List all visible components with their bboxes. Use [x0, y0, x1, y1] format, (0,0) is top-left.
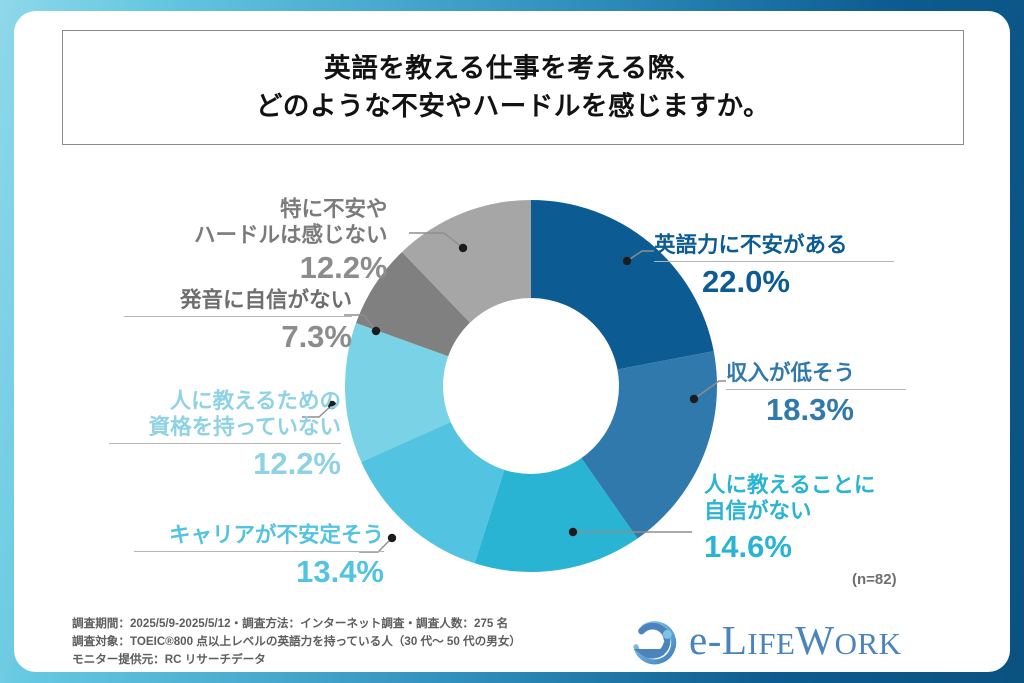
- logo-text-l: L: [722, 617, 748, 663]
- sample-size-label: (n=82): [852, 571, 897, 588]
- callout-rule: [109, 443, 341, 444]
- title-line-2: どのような不安やハードルを感じますか。: [256, 88, 770, 126]
- callout-label-line-1: 特に不安や: [194, 197, 388, 223]
- callout-rule: [726, 389, 906, 390]
- callout-label: 収入が低そう: [726, 361, 906, 387]
- callout-rule: [124, 316, 352, 317]
- callout-no-concerns: 特に不安や ハードルは感じない 12.2%: [194, 197, 388, 285]
- survey-monitor-source: モニター提供元：RC リサーチデータ: [72, 651, 612, 669]
- infographic-card: 英語を教える仕事を考える際、 どのような不安やハードルを感じますか。 英語力に不…: [14, 11, 1010, 672]
- callout-rule: [134, 551, 384, 552]
- logo-text-ork: ORK: [835, 626, 902, 661]
- callout-unstable-career: キャリアが不安定そう 13.4%: [134, 523, 384, 589]
- callout-rule: [654, 261, 894, 262]
- callout-label: キャリアが不安定そう: [134, 523, 384, 549]
- callout-no-confidence-teaching: 人に教えることに 自信がない 14.6%: [704, 473, 875, 564]
- callout-percent: 13.4%: [134, 555, 384, 589]
- callout-percent: 12.2%: [194, 251, 388, 285]
- callout-english-ability: 英語力に不安がある 22.0%: [654, 233, 894, 299]
- callout-label-line-2: 自信がない: [704, 499, 875, 525]
- survey-target: 調査対象：TOEIC®800 点以上レベルの英語力を持っている人（30 代～ 5…: [72, 633, 612, 651]
- survey-period: 調査期間：2025/5/9-2025/5/12・調査方法：インターネット調査・調…: [72, 615, 612, 633]
- callout-no-qualification: 人に教えるための 資格を持っていない 12.2%: [109, 389, 341, 481]
- page-title: 英語を教える仕事を考える際、 どのような不安やハードルを感じますか。: [62, 30, 964, 145]
- logo-wordmark: e-LIFEWORK: [689, 620, 902, 661]
- callout-low-income: 収入が低そう 18.3%: [726, 361, 906, 427]
- callout-percent: 22.0%: [702, 265, 894, 299]
- callout-percent: 18.3%: [766, 393, 906, 427]
- callout-percent: 12.2%: [109, 447, 341, 481]
- callout-percent: 14.6%: [704, 530, 875, 564]
- brand-logo[interactable]: e-LIFEWORK: [627, 611, 979, 669]
- title-line-1: 英語を教える仕事を考える際、: [324, 50, 702, 88]
- callout-label-line-1: 人に教えることに: [704, 473, 875, 499]
- callout-pronunciation: 発音に自信がない 7.3%: [124, 288, 352, 354]
- logo-text-e: e-: [689, 617, 722, 663]
- callout-label-line-1: 人に教えるための: [109, 389, 341, 415]
- callout-percent: 7.3%: [124, 320, 352, 354]
- callout-label-line-2: 資格を持っていない: [109, 415, 341, 441]
- survey-metadata: 調査期間：2025/5/9-2025/5/12・調査方法：インターネット調査・調…: [72, 615, 612, 669]
- callout-label: 英語力に不安がある: [654, 233, 894, 259]
- e-logo-icon: [627, 612, 683, 668]
- logo-text-w: W: [795, 617, 834, 663]
- callout-label-line-2: ハードルは感じない: [194, 223, 388, 249]
- logo-text-ife: IFE: [747, 626, 795, 661]
- callout-label: 発音に自信がない: [124, 288, 352, 314]
